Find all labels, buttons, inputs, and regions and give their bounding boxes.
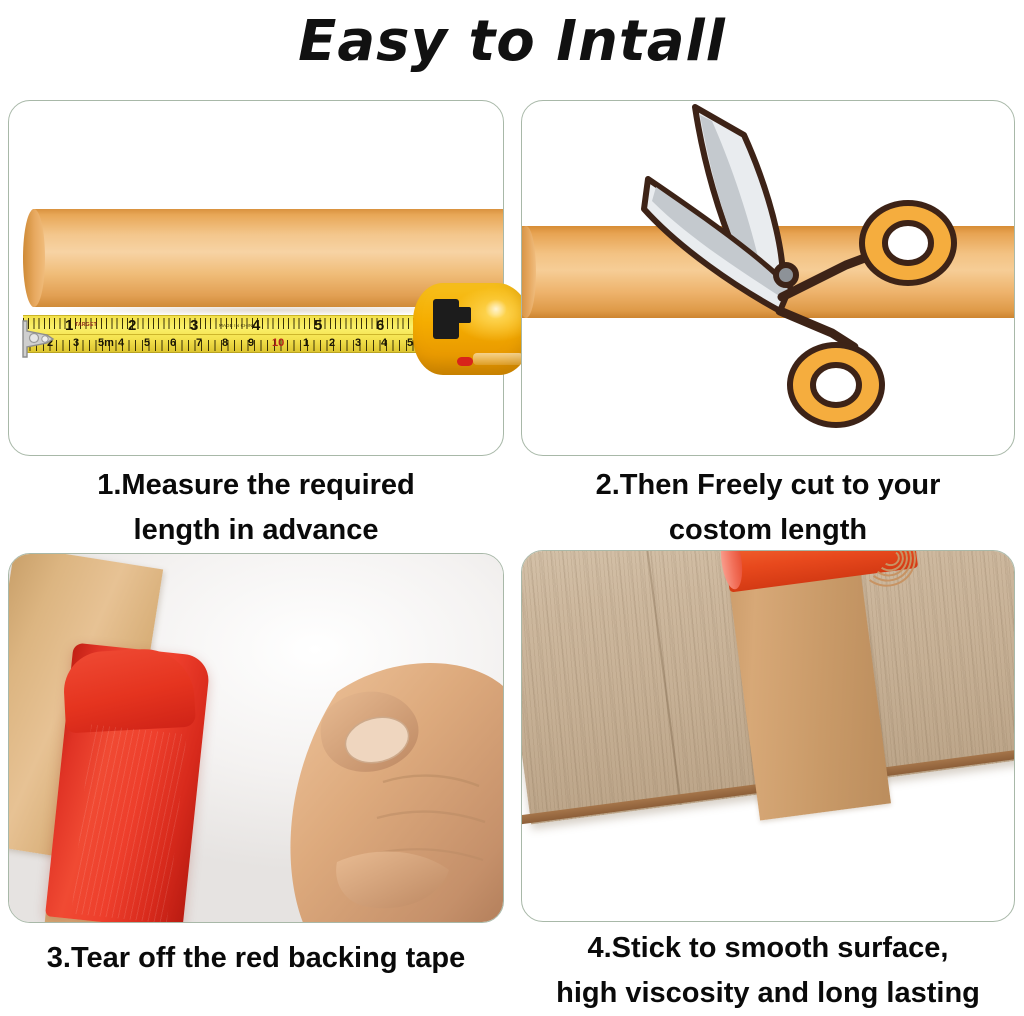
caption-step-3: 3.Tear off the red backing tape <box>0 936 512 981</box>
cut-panel <box>521 100 1015 456</box>
caption-step-1: 1.Measure the required length in advance <box>0 463 512 553</box>
caption-step-2: 2.Then Freely cut to your costom length <box>512 463 1024 553</box>
blade-imperial-3: 3 <box>190 318 198 333</box>
blade-metric-6: 8 <box>222 338 228 349</box>
caption-step-2-line-2: costom length <box>512 508 1024 553</box>
caption-step-1-line-2: length in advance <box>0 508 512 553</box>
blade-sub-label: 5m <box>98 338 114 349</box>
blade-metric-1: 3 <box>73 338 79 349</box>
peel-panel-image <box>9 554 503 922</box>
tape-measure-lock-tab <box>457 307 471 323</box>
red-backing-film-fold <box>62 647 196 734</box>
blade-metric-10: 2 <box>329 338 335 349</box>
peel-panel <box>8 553 504 923</box>
blade-metric-9: 1 <box>303 338 309 349</box>
tape-measure-lock-button <box>433 299 459 339</box>
blade-imperial-5: 5 <box>314 318 322 333</box>
hand-icon <box>187 632 503 922</box>
wood-plank-seam <box>641 551 682 805</box>
blade-metric-3: 5 <box>144 338 150 349</box>
stick-panel <box>521 550 1015 922</box>
red-backing-film-sheen <box>71 725 186 922</box>
blade-metric-7: 9 <box>248 338 254 349</box>
caption-step-4: 4.Stick to smooth surface, high viscosit… <box>512 926 1024 1016</box>
caption-step-4-line-2: high viscosity and long lasting <box>512 971 1024 1016</box>
tape-roll-end-cap <box>23 209 45 307</box>
caption-step-1-line-1: 1.Measure the required <box>0 463 512 508</box>
tape-measure-red-button <box>457 357 473 366</box>
blade-imperial-1: 1 <box>65 318 73 333</box>
blade-metric-4: 6 <box>170 338 176 349</box>
measure-panel-image: 1 2 3 4 5 6 TARGET MADE IN CHINA 2 3 5m … <box>9 101 503 455</box>
blade-metric-11: 3 <box>355 338 361 349</box>
blade-origin-text: MADE IN CHINA <box>219 323 256 328</box>
blade-divider-line <box>23 334 433 335</box>
cut-panel-image <box>522 101 1014 455</box>
blade-metric-8: 10 <box>272 338 284 349</box>
stick-panel-image <box>522 551 1014 921</box>
scissors-icon <box>640 101 970 455</box>
blade-imperial-2: 2 <box>128 318 136 333</box>
blade-brand-text: TARGET <box>75 322 97 328</box>
tape-measure-highlight <box>485 299 507 319</box>
caption-step-2-line-1: 2.Then Freely cut to your <box>512 463 1024 508</box>
tape-measure-blade: 1 2 3 4 5 6 TARGET MADE IN CHINA 2 3 5m … <box>23 315 433 353</box>
caption-step-4-line-1: 4.Stick to smooth surface, <box>512 926 1024 971</box>
page-title: Easy to Intall <box>0 4 1024 80</box>
tape-measure-hook-icon <box>17 317 61 361</box>
tape-measure-label-strip <box>473 353 523 365</box>
measure-panel: 1 2 3 4 5 6 TARGET MADE IN CHINA 2 3 5m … <box>8 100 504 456</box>
caption-step-3-line-1: 3.Tear off the red backing tape <box>0 936 512 981</box>
blade-metric-2: 4 <box>118 338 124 349</box>
blade-metric-12: 4 <box>381 338 387 349</box>
blade-metric-5: 7 <box>196 338 202 349</box>
blade-imperial-6: 6 <box>376 318 384 333</box>
